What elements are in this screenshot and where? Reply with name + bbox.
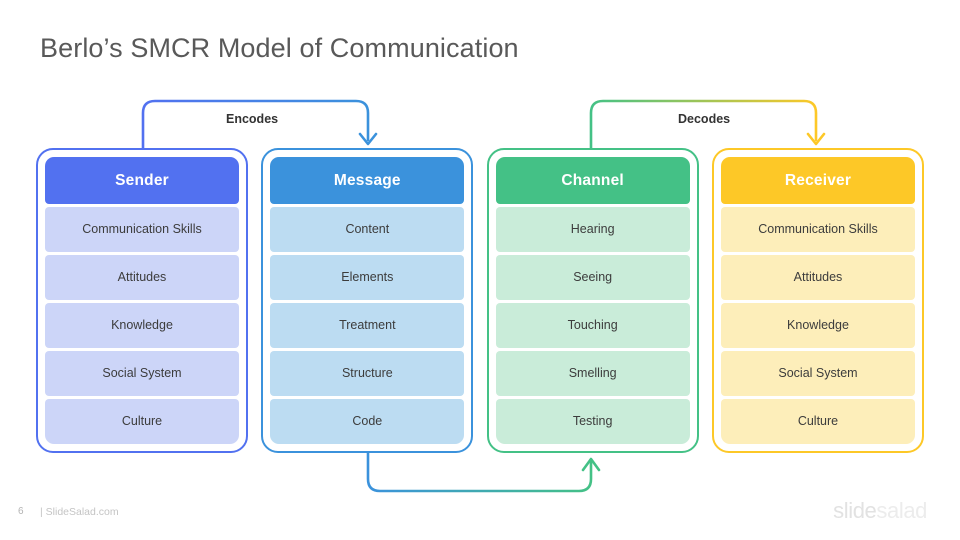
column-header-message: Message <box>270 157 464 204</box>
connector-label-decodes: Decodes <box>670 112 738 126</box>
connector-label-encodes: Encodes <box>218 112 286 126</box>
column-header-sender: Sender <box>45 157 239 204</box>
list-item[interactable]: Seeing <box>496 255 690 300</box>
column-header-receiver: Receiver <box>721 157 915 204</box>
page-title: Berlo’s SMCR Model of Communication <box>40 33 519 64</box>
footer-site-label: | SlideSalad.com <box>40 506 119 518</box>
list-item[interactable]: Treatment <box>270 303 464 348</box>
column-header-channel: Channel <box>496 157 690 204</box>
list-item[interactable]: Knowledge <box>721 303 915 348</box>
brand-logo-strong: slide <box>833 498 876 523</box>
list-item[interactable]: Elements <box>270 255 464 300</box>
connector-feedback <box>368 453 599 491</box>
list-item[interactable]: Communication Skills <box>45 207 239 252</box>
list-item[interactable]: Culture <box>45 399 239 444</box>
slide-canvas: Berlo’s SMCR Model of Communication <box>0 0 960 540</box>
page-number: 6 <box>18 506 24 517</box>
list-item[interactable]: Attitudes <box>721 255 915 300</box>
column-channel[interactable]: Channel Hearing Seeing Touching Smelling… <box>487 148 699 453</box>
list-item[interactable]: Communication Skills <box>721 207 915 252</box>
list-item[interactable]: Attitudes <box>45 255 239 300</box>
smcr-columns: Sender Communication Skills Attitudes Kn… <box>36 148 924 453</box>
list-item[interactable]: Culture <box>721 399 915 444</box>
column-receiver[interactable]: Receiver Communication Skills Attitudes … <box>712 148 924 453</box>
list-item[interactable]: Social System <box>721 351 915 396</box>
brand-logo-light: salad <box>876 498 927 523</box>
list-item[interactable]: Testing <box>496 399 690 444</box>
list-item[interactable]: Knowledge <box>45 303 239 348</box>
list-item[interactable]: Code <box>270 399 464 444</box>
list-item[interactable]: Social System <box>45 351 239 396</box>
list-item[interactable]: Touching <box>496 303 690 348</box>
column-sender[interactable]: Sender Communication Skills Attitudes Kn… <box>36 148 248 453</box>
list-item[interactable]: Smelling <box>496 351 690 396</box>
column-message[interactable]: Message Content Elements Treatment Struc… <box>261 148 473 453</box>
list-item[interactable]: Hearing <box>496 207 690 252</box>
list-item[interactable]: Content <box>270 207 464 252</box>
list-item[interactable]: Structure <box>270 351 464 396</box>
brand-logo: slidesalad <box>833 498 927 524</box>
